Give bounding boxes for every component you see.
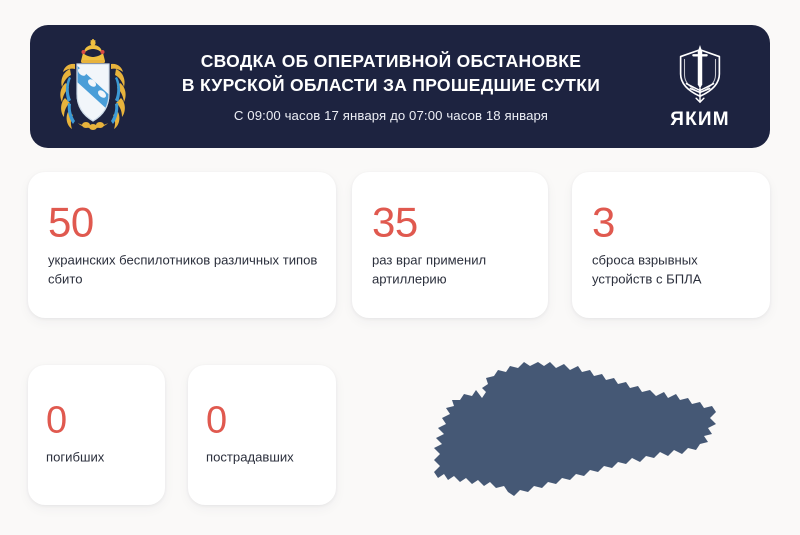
stat-value: 35 <box>372 201 534 242</box>
header-text-block: СВОДКА ОБ ОПЕРАТИВНОЙ ОБСТАНОВКЕ В КУРСК… <box>130 50 652 122</box>
stat-label: украинских беспилотников различных типов… <box>48 252 322 289</box>
stat-card-drones: 50 украинских беспилотников различных ти… <box>28 172 336 318</box>
stat-card-injured: 0 пострадавших <box>188 365 336 505</box>
stat-value: 50 <box>48 201 322 242</box>
stat-card-artillery: 35 раз враг применил артиллерию <box>352 172 548 318</box>
stat-value: 3 <box>592 201 756 242</box>
brand-name: ЯКИМ <box>670 109 730 131</box>
stat-label: сброса взрывных устройств с БПЛА <box>592 252 756 289</box>
brand-logo-block: ЯКИМ <box>652 42 748 131</box>
header-banner: СВОДКА ОБ ОПЕРАТИВНОЙ ОБСТАНОВКЕ В КУРСК… <box>30 25 770 148</box>
stat-label: погибших <box>46 449 155 468</box>
kursk-oblast-silhouette <box>434 362 716 496</box>
shield-sword-icon <box>669 42 731 106</box>
stat-label: пострадавших <box>206 449 326 468</box>
stat-value: 0 <box>206 403 326 440</box>
coat-of-arms-kursk-oblast-icon <box>56 39 130 135</box>
header-title: СВОДКА ОБ ОПЕРАТИВНОЙ ОБСТАНОВКЕ В КУРСК… <box>140 50 642 96</box>
stat-value: 0 <box>46 403 155 440</box>
stat-label: раз враг применил артиллерию <box>372 252 534 289</box>
header-subtitle-period: С 09:00 часов 17 января до 07:00 часов 1… <box>140 108 642 123</box>
stat-card-killed: 0 погибших <box>28 365 165 505</box>
kursk-oblast-map <box>420 358 740 510</box>
infographic-page: СВОДКА ОБ ОПЕРАТИВНОЙ ОБСТАНОВКЕ В КУРСК… <box>0 0 800 535</box>
stat-card-explosive-drops: 3 сброса взрывных устройств с БПЛА <box>572 172 770 318</box>
